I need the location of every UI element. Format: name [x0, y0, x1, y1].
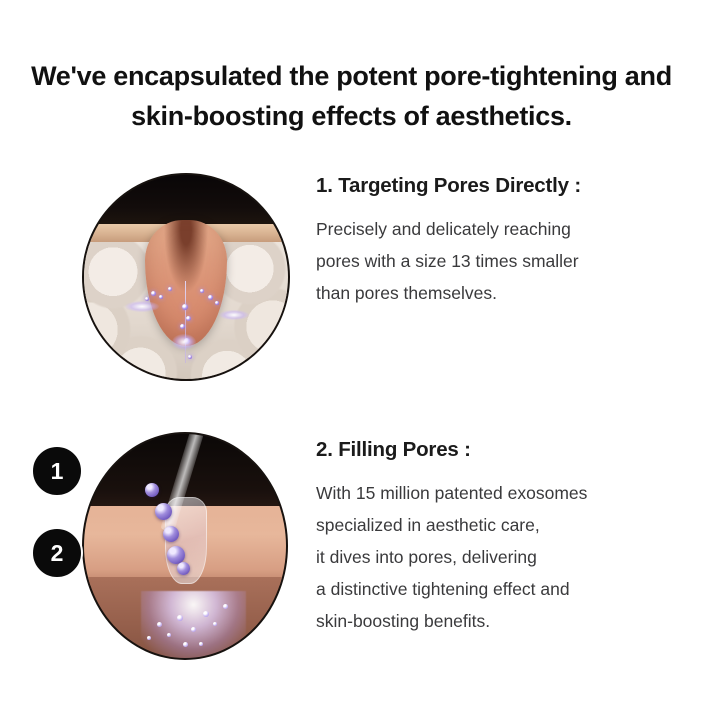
exosome-bead: [177, 562, 190, 575]
step-1-media: [82, 173, 290, 381]
particle-icon: [182, 304, 188, 310]
particle-icon: [186, 316, 191, 321]
body-line: pores with a size 13 times smaller: [316, 245, 688, 277]
particle-icon: [188, 355, 192, 359]
exosome-bead: [145, 483, 159, 497]
particle-icon: [147, 636, 151, 640]
body-line: a distinctive tightening effect and: [316, 573, 688, 605]
step-1-text: 1. Targeting Pores Directly : Precisely …: [316, 173, 688, 309]
step-1-body: Precisely and delicately reaching pores …: [316, 213, 688, 309]
exosome-bead: [163, 526, 179, 542]
pore-applicator-image: [82, 173, 290, 381]
particle-icon: [191, 627, 196, 632]
microneedle: [185, 281, 187, 363]
headline-line-1: We've encapsulated the potent pore-tight…: [0, 56, 703, 96]
particle-icon: [168, 287, 172, 291]
exosome-droplet-image: [82, 432, 288, 660]
light-streak: [172, 334, 196, 350]
particle-icon: [157, 622, 162, 627]
body-line: skin-boosting benefits.: [316, 605, 688, 637]
body-line: than pores themselves.: [316, 277, 688, 309]
body-line: specialized in aesthetic care,: [316, 509, 688, 541]
body-line: it dives into pores, delivering: [316, 541, 688, 573]
step-badge-2: 2: [31, 527, 83, 579]
light-streak: [219, 310, 249, 320]
step-2-media: [82, 432, 288, 660]
headline-line-2: skin-boosting effects of aesthetics.: [0, 96, 703, 136]
step-2-text: 2. Filling Pores : With 15 million paten…: [316, 437, 688, 637]
step-2-body: With 15 million patented exosomes specia…: [316, 477, 688, 637]
step-2-title: 2. Filling Pores :: [316, 437, 688, 463]
step-1-title: 1. Targeting Pores Directly :: [316, 173, 688, 199]
body-line: Precisely and delicately reaching: [316, 213, 688, 245]
step-badge-1: 1: [31, 445, 83, 497]
page-headline: We've encapsulated the potent pore-tight…: [0, 56, 703, 136]
body-line: With 15 million patented exosomes: [316, 477, 688, 509]
particle-icon: [180, 324, 185, 329]
